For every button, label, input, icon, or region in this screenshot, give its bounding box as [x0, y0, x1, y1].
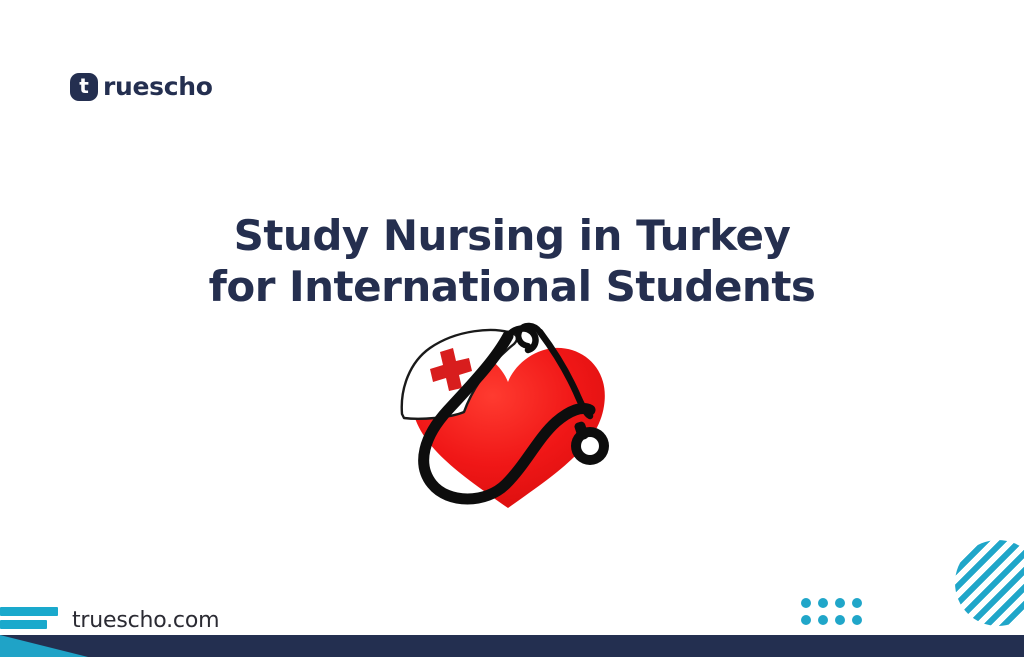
footer-accent-bars: [0, 607, 60, 629]
dot: [835, 598, 845, 608]
brand-logo[interactable]: t ruescho: [70, 72, 213, 101]
decorative-striped-circle: [955, 540, 1024, 626]
stethoscope-chestpiece-icon: [571, 421, 609, 465]
dot: [852, 598, 862, 608]
dot: [801, 598, 811, 608]
nursing-heart-stethoscope-illustration: [390, 318, 630, 518]
dot: [818, 598, 828, 608]
page-title-line-2: for International Students: [0, 261, 1024, 312]
dot: [818, 615, 828, 625]
logo-wordmark: ruescho: [103, 72, 213, 101]
page-title-line-1: Study Nursing in Turkey: [0, 210, 1024, 261]
footer-bottom-bar: [0, 629, 1024, 657]
footer-accent-bar-1: [0, 607, 58, 616]
page-title: Study Nursing in Turkey for Internationa…: [0, 210, 1024, 312]
dot: [801, 615, 811, 625]
dot: [852, 615, 862, 625]
logo-mark-icon: t: [70, 73, 98, 101]
banner-canvas: t ruescho Study Nursing in Turkey for In…: [0, 0, 1024, 657]
footer-accent-bar-2: [0, 620, 47, 629]
dot: [835, 615, 845, 625]
footer-bar-navy: [0, 635, 1024, 657]
decorative-dot-grid: [801, 598, 862, 625]
